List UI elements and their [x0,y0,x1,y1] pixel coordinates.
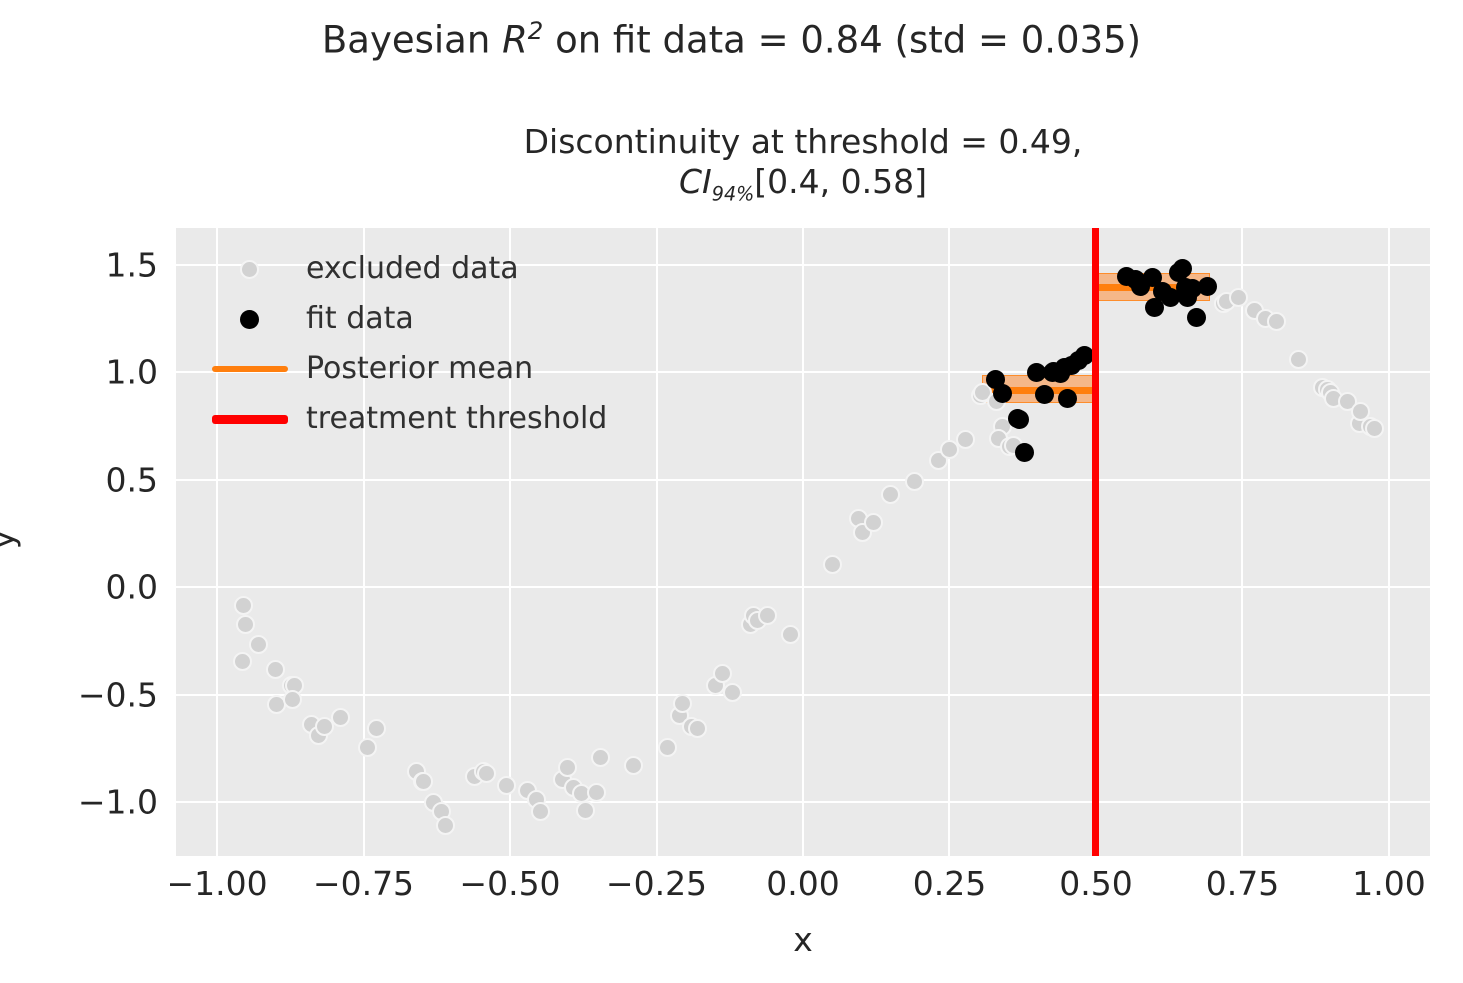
axes-title-line1: Discontinuity at threshold = 0.49, [176,122,1430,162]
figure-suptitle: Bayesian R2 on fit data = 0.84 (std = 0.… [0,18,1463,61]
excluded-data-point [233,652,252,671]
excluded-data-point [576,801,595,820]
excluded-data-point [956,430,975,449]
excluded-data-point [414,772,433,791]
excluded-data-point [823,555,842,574]
y-tick-label: 1.0 [0,353,158,392]
x-tick-label: −0.50 [459,864,560,903]
legend-marker-icon [206,294,294,344]
excluded-data-point [236,615,255,634]
legend-marker-icon [206,394,294,444]
legend-item-posterior-mean: Posterior mean [206,344,626,394]
excluded-data-point [1289,350,1308,369]
fit-data-point [1187,308,1206,327]
gridline-horizontal [176,801,1430,803]
treatment-threshold-line [1092,228,1099,856]
excluded-data-point [624,756,643,775]
fit-data-point [1015,443,1034,462]
excluded-data-point [266,660,285,679]
excluded-data-point [331,708,350,727]
excluded-data-point [477,764,496,783]
excluded-data-point [1267,312,1286,331]
legend-label: treatment threshold [306,401,607,436]
excluded-data-point [1365,419,1384,438]
ci-level: 94% [712,183,755,206]
excluded-data-point [688,719,707,738]
figure-canvas: Bayesian R2 on fit data = 0.84 (std = 0.… [0,0,1463,983]
suptitle-exponent: 2 [528,16,544,45]
x-tick-label: 0.75 [1206,864,1279,903]
circle-marker-icon [240,260,259,279]
x-tick-label: −0.25 [606,864,707,903]
x-tick-label: −1.00 [166,864,267,903]
legend-label: fit data [306,301,414,336]
excluded-data-point [591,748,610,767]
excluded-data-point [436,816,455,835]
legend-item-fit-data: fit data [206,294,626,344]
y-tick-label: −0.5 [0,675,158,714]
excluded-data-point [531,802,550,821]
x-tick-label: 0.00 [766,864,839,903]
gridline-vertical [1241,228,1243,856]
legend-item-excluded-data: excluded data [206,244,626,294]
excluded-data-point [758,606,777,625]
ci-symbol: CI [679,162,712,201]
excluded-data-point [497,776,516,795]
excluded-data-point [283,690,302,709]
excluded-data-point [587,783,606,802]
x-tick-label: 1.00 [1352,864,1425,903]
x-tick-label: 0.25 [913,864,986,903]
y-tick-label: 1.5 [0,245,158,284]
excluded-data-point [723,683,742,702]
excluded-data-point [234,596,253,615]
plot-area: excluded datafit dataPosterior meantreat… [176,228,1430,856]
legend: excluded datafit dataPosterior meantreat… [206,244,626,444]
gridline-horizontal [176,694,1430,696]
fit-data-point [1198,277,1217,296]
excluded-data-point [881,485,900,504]
axes-title: Discontinuity at threshold = 0.49, CI94%… [176,122,1430,206]
y-tick-label: −1.0 [0,783,158,822]
suptitle-suffix: on fit data = 0.84 (std = 0.035) [543,18,1141,61]
excluded-data-point [249,635,268,654]
fit-data-point [1075,346,1094,365]
suptitle-r-symbol: R [502,18,528,61]
legend-item-treatment-threshold: treatment threshold [206,394,626,444]
gridline-vertical [802,228,804,856]
fit-data-point [1010,410,1029,429]
gridline-vertical [656,228,658,856]
legend-marker-icon [206,344,294,394]
gridline-horizontal [176,479,1430,481]
excluded-data-point [713,664,732,683]
excluded-data-point [781,625,800,644]
gridline-vertical [948,228,950,856]
legend-label: excluded data [306,251,519,286]
x-axis-label: x [176,920,1430,959]
legend-label: Posterior mean [306,351,533,386]
excluded-data-point [905,472,924,491]
axes-title-line2: CI94%[0.4, 0.58] [176,162,1430,206]
x-tick-label: −0.75 [313,864,414,903]
y-tick-label: 0.0 [0,568,158,607]
y-tick-label: 0.5 [0,460,158,499]
excluded-data-point [673,694,692,713]
fit-data-point [1058,389,1077,408]
x-tick-label: 0.50 [1059,864,1132,903]
circle-marker-icon [240,310,259,329]
line-marker-icon [212,366,288,372]
suptitle-prefix: Bayesian [322,18,502,61]
legend-marker-icon [206,244,294,294]
excluded-data-point [558,758,577,777]
ci-interval: [0.4, 0.58] [754,162,927,201]
excluded-data-point [658,738,677,757]
gridline-vertical [1388,228,1390,856]
excluded-data-point [367,719,386,738]
excluded-data-point [358,738,377,757]
gridline-horizontal [176,586,1430,588]
excluded-data-point [864,513,883,532]
y-axis-label: y [0,530,21,550]
fit-data-point [993,384,1012,403]
fit-data-point [1035,385,1054,404]
line-marker-icon [212,415,288,424]
